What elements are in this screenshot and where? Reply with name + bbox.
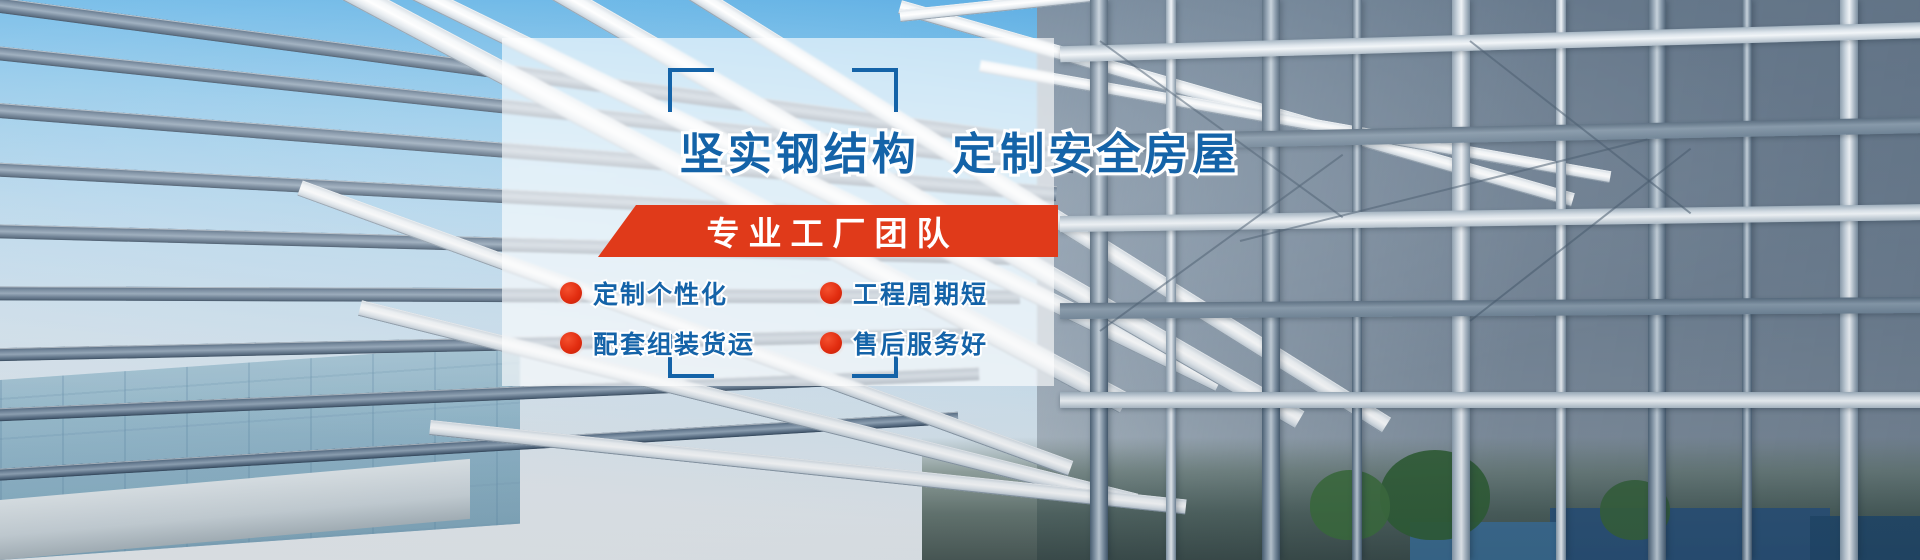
- red-dot-icon: [820, 282, 842, 304]
- feature-item: 配套组装货运: [560, 325, 820, 361]
- feature-label: 工程周期短: [853, 275, 988, 311]
- headline: 坚实钢结构 定制安全房屋: [0, 118, 1920, 182]
- red-dot-icon: [560, 282, 582, 304]
- feature-label: 配套组装货运: [593, 325, 755, 361]
- promo-banner: 坚实钢结构 定制安全房屋 专业工厂团队 定制个性化 工程周期短 配套组装货运 售…: [0, 0, 1920, 560]
- corner-bracket-top-right: [852, 68, 898, 112]
- feature-list: 定制个性化 工程周期短 配套组装货运 售后服务好: [560, 275, 1080, 361]
- banner-content: 坚实钢结构 定制安全房屋 专业工厂团队 定制个性化 工程周期短 配套组装货运 售…: [0, 0, 1920, 560]
- feature-item: 工程周期短: [820, 275, 1080, 311]
- feature-item: 定制个性化: [560, 275, 820, 311]
- ribbon-label: 专业工厂团队: [598, 205, 1058, 257]
- feature-item: 售后服务好: [820, 325, 1080, 361]
- red-dot-icon: [820, 332, 842, 354]
- feature-label: 定制个性化: [593, 275, 728, 311]
- corner-bracket-top-left: [668, 68, 714, 112]
- feature-label: 售后服务好: [853, 325, 988, 361]
- red-dot-icon: [560, 332, 582, 354]
